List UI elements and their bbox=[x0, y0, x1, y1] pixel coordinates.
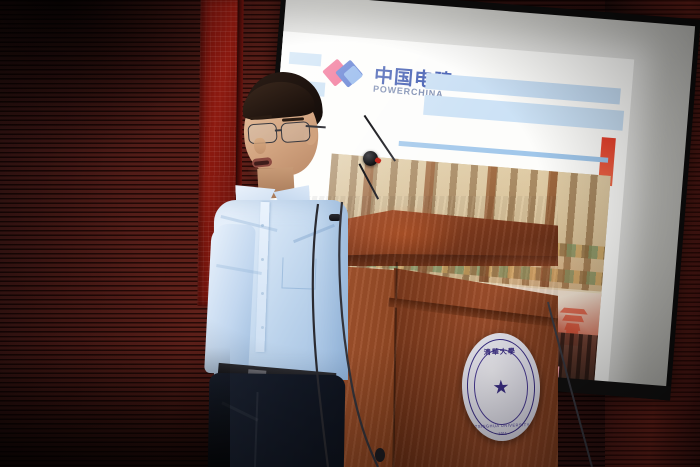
slide-blue-accent-top bbox=[289, 52, 322, 67]
floor-cable bbox=[546, 300, 636, 467]
emblem-star-icon: ★ bbox=[492, 378, 510, 398]
microphone-cables bbox=[300, 200, 420, 467]
tsinghua-university-emblem: 清華大學 ★ TSINGHUA UNIVERSITY 1911 bbox=[460, 332, 542, 443]
photo-scene: 中国电建 POWERCHINA 国际标准化组 bbox=[0, 0, 700, 467]
slide-blue-rule bbox=[399, 141, 609, 163]
foreground-shadow bbox=[0, 347, 230, 467]
